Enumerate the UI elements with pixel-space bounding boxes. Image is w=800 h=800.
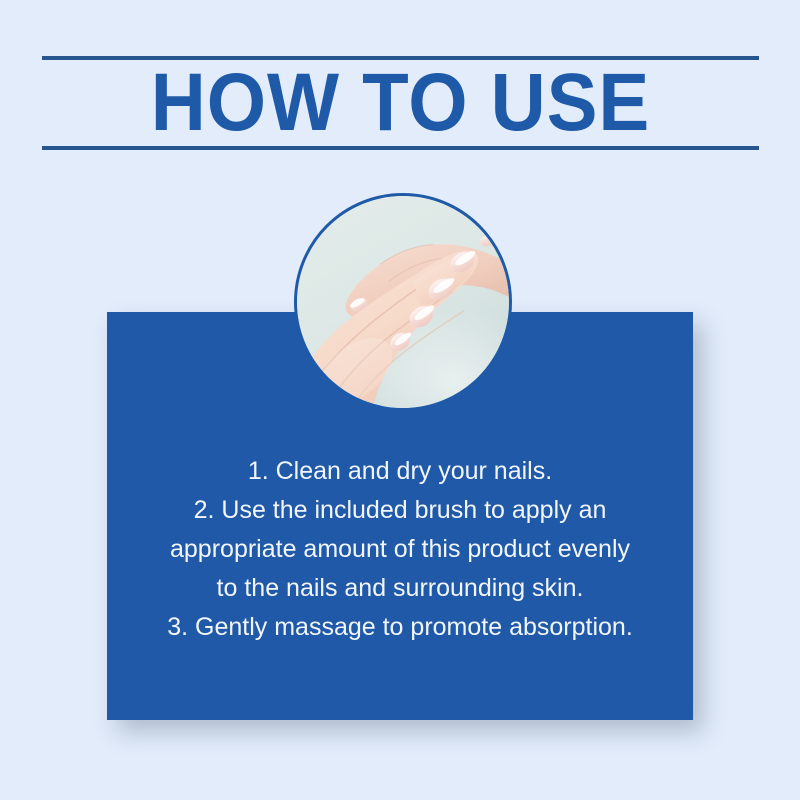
poster-root: HOW TO USE 1. Clean and dry your nails. … <box>0 0 800 800</box>
list-item: 3. Gently massage to promote absorption. <box>123 608 677 647</box>
hands-photo-illustration <box>297 196 509 408</box>
title-bottom-rule <box>42 146 759 150</box>
list-item: to the nails and surrounding skin. <box>123 569 677 608</box>
page-title: HOW TO USE <box>67 60 734 146</box>
heading-block: HOW TO USE <box>42 56 759 152</box>
hands-photo-circle <box>294 193 512 411</box>
list-item: 1. Clean and dry your nails. <box>123 452 677 491</box>
instructions-list: 1. Clean and dry your nails. 2. Use the … <box>107 452 693 647</box>
list-item: 2. Use the included brush to apply an <box>123 491 677 530</box>
hands-photo <box>297 196 509 408</box>
list-item: appropriate amount of this product evenl… <box>123 530 677 569</box>
